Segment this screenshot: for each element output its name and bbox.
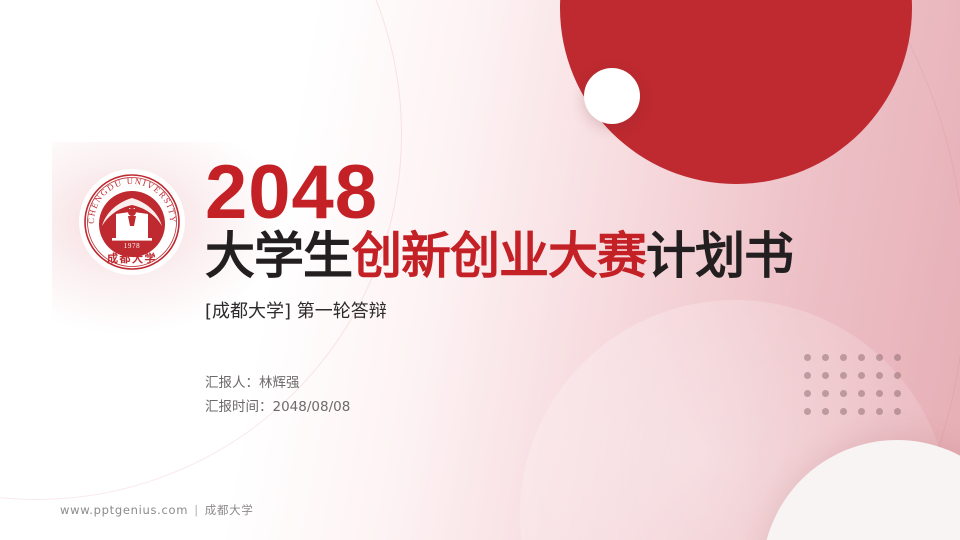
year-heading: 2048 — [205, 158, 905, 228]
white-large-circle-shape — [762, 440, 960, 540]
footer: www.pptgenius.com|成都大学 — [60, 502, 254, 518]
headline-part-3: 计划书 — [646, 227, 793, 285]
university-seal-logo: CHENGDU UNIVERSITY 1978 成都大学 — [78, 168, 186, 276]
footer-separator: | — [194, 503, 199, 517]
headline-highlight: 创新创业大赛 — [352, 227, 646, 285]
svg-text:成都大学: 成都大学 — [107, 251, 157, 265]
footer-site: www.pptgenius.com — [60, 503, 188, 517]
presentation-cover-slide: CHENGDU UNIVERSITY 1978 成都大学 2048 大学生创新创… — [0, 0, 960, 540]
presentation-meta: 汇报人：林辉强 汇报时间：2048/08/08 — [205, 372, 905, 419]
date-line: 汇报时间：2048/08/08 — [205, 396, 905, 420]
white-dot-circle-shape — [584, 68, 640, 124]
svg-text:1978: 1978 — [124, 242, 140, 250]
footer-org: 成都大学 — [205, 503, 254, 517]
main-headline: 大学生创新创业大赛计划书 — [205, 230, 905, 283]
red-circle-shape — [560, 0, 912, 184]
headline-part-1: 大学生 — [205, 227, 352, 285]
cover-text-block: 2048 大学生创新创业大赛计划书 [成都大学] 第一轮答辩 汇报人：林辉强 汇… — [205, 158, 905, 419]
presenter-line: 汇报人：林辉强 — [205, 372, 905, 396]
subtitle: [成都大学] 第一轮答辩 — [205, 299, 905, 324]
